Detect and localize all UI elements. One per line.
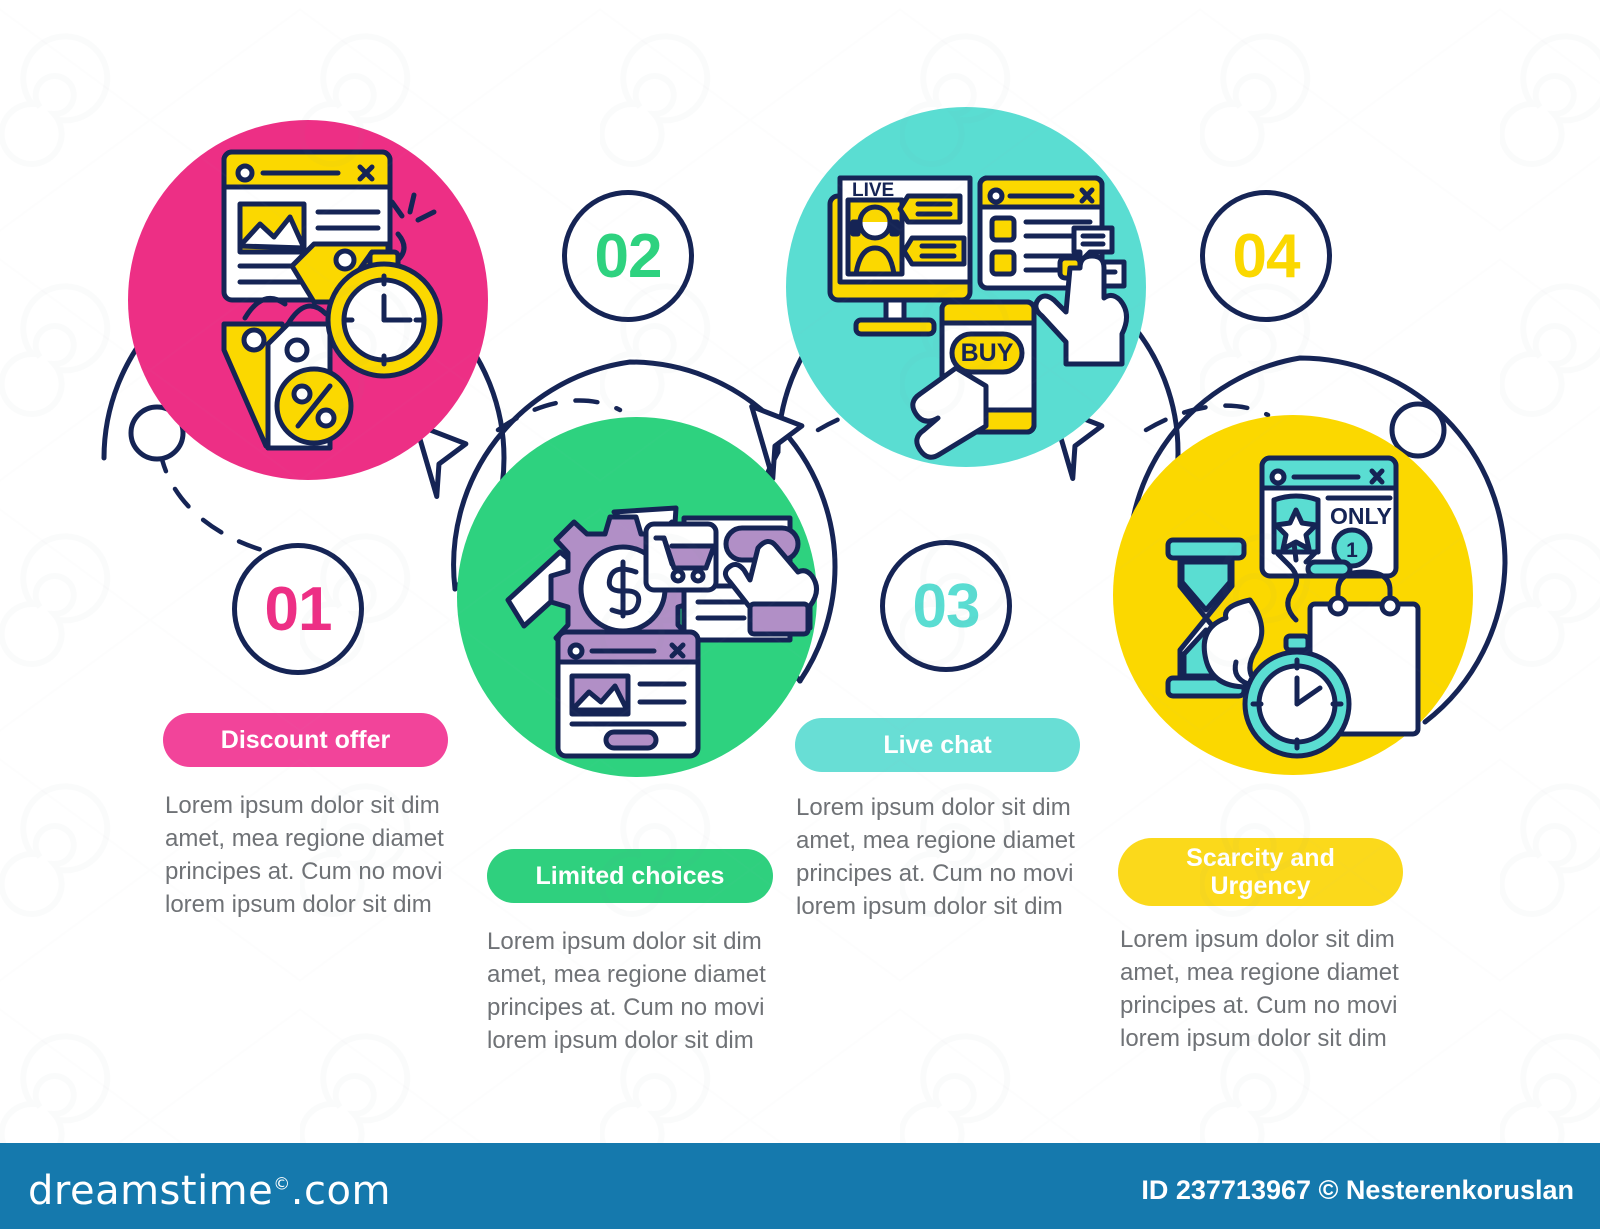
step-number-badge-04[interactable]: 04 bbox=[1200, 190, 1332, 322]
step-title-label-03: Live chat bbox=[883, 731, 991, 759]
step-title-pill-03[interactable]: Live chat bbox=[795, 718, 1080, 772]
step-number-label-04: 04 bbox=[1233, 221, 1300, 292]
step-body-text-04: Lorem ipsum dolor sit dim amet, mea regi… bbox=[1120, 924, 1420, 1056]
browser-dot bbox=[238, 166, 252, 180]
only-count-label: 1 bbox=[1346, 539, 1358, 562]
path-end-dot bbox=[1392, 404, 1444, 456]
step-title-pill-04[interactable]: Scarcity and Urgency bbox=[1118, 838, 1403, 906]
step-title-pill-02[interactable]: Limited choices bbox=[487, 849, 773, 903]
step-title-label-04: Scarcity and Urgency bbox=[1136, 844, 1385, 900]
step-number-badge-03[interactable]: 03 bbox=[880, 540, 1012, 672]
step-number-label-02: 02 bbox=[595, 221, 662, 292]
registered-mark: © bbox=[273, 1175, 291, 1195]
step-number-badge-02[interactable]: 02 bbox=[562, 190, 694, 322]
only-label: ONLY bbox=[1330, 503, 1392, 529]
dreamstime-logo-tld: .com bbox=[291, 1168, 391, 1214]
step-number-label-01: 01 bbox=[265, 574, 332, 645]
step-body-text-01: Lorem ipsum dolor sit dim amet, mea regi… bbox=[165, 790, 465, 922]
stock-id-credit: ID 237713967 © Nesterenkoruslan bbox=[1141, 1175, 1574, 1206]
step-01-illustration bbox=[128, 120, 488, 480]
step-number-badge-01[interactable]: 01 bbox=[232, 543, 364, 675]
step-04-illustration: ONLY 1 bbox=[1113, 415, 1473, 775]
step-title-label-02: Limited choices bbox=[536, 862, 725, 890]
step-title-label-01: Discount offer bbox=[221, 726, 390, 754]
browser-window-icon-02 bbox=[558, 632, 698, 756]
step-03-illustration: LIVE bbox=[786, 107, 1146, 467]
dreamstime-logo-word: dreamstime bbox=[28, 1168, 273, 1214]
buy-label: BUY bbox=[961, 339, 1014, 367]
step-number-label-03: 03 bbox=[913, 571, 980, 642]
dreamstime-logo: dreamstime©.com bbox=[28, 1168, 391, 1214]
step-title-pill-01[interactable]: Discount offer bbox=[163, 713, 448, 767]
step-02-illustration bbox=[457, 417, 817, 777]
step-body-text-03: Lorem ipsum dolor sit dim amet, mea regi… bbox=[796, 792, 1096, 924]
infographic-canvas: LIVE bbox=[0, 0, 1600, 1229]
step-body-text-02: Lorem ipsum dolor sit dim amet, mea regi… bbox=[487, 926, 787, 1058]
live-label: LIVE bbox=[852, 180, 894, 201]
